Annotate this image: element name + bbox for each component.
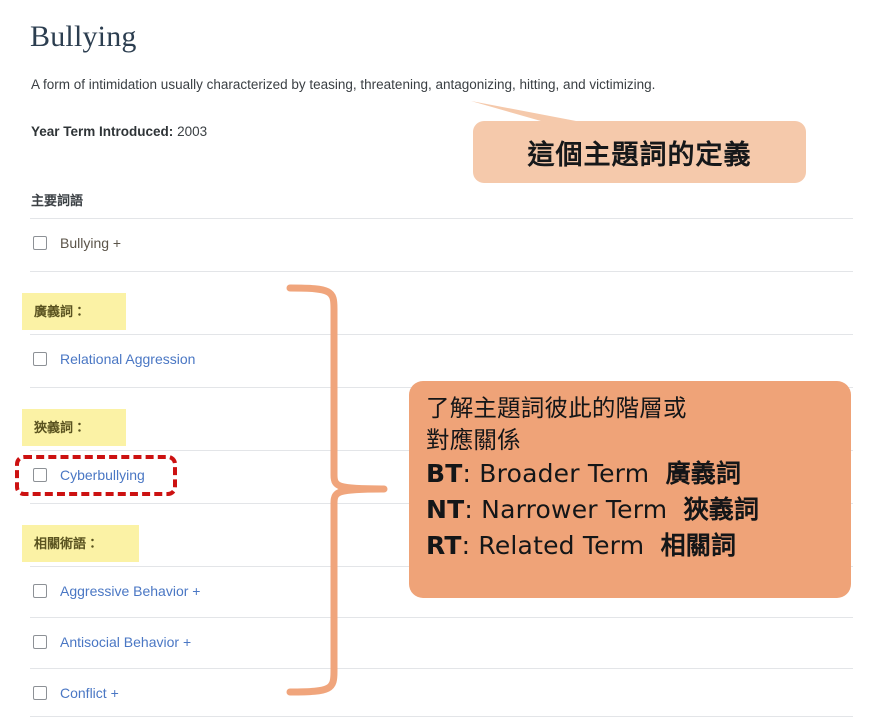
divider [30,716,853,717]
list-item-antisocial-behavior[interactable]: Antisocial Behavior + [33,634,191,650]
callout-relationship-legend: 了解主題詞彼此的階層或 對應關係 BT: Broader Term 廣義詞 NT… [409,381,851,598]
section-heading-related-terms: 相關術語： [22,525,139,562]
divider [30,617,853,618]
year-term-introduced-value: 2003 [177,124,207,139]
checkbox-icon[interactable] [33,635,47,649]
divider [30,271,853,272]
legend-nt-code: NT [426,495,464,524]
list-item-label[interactable]: Antisocial Behavior + [60,634,191,650]
thesaurus-term-page: Bullying A form of intimidation usually … [0,0,887,720]
divider [30,668,853,669]
section-heading-narrower-term: 狹義詞： [22,409,126,446]
checkbox-icon[interactable] [33,352,47,366]
legend-rt-code: RT [426,531,462,560]
divider [30,334,853,335]
callout-definition: 這個主題詞的定義 [473,121,806,183]
legend-rt-sep: : [462,531,479,560]
list-item-relational-aggression[interactable]: Relational Aggression [33,351,195,367]
legend-bt-english: Broader Term [479,459,649,488]
year-term-introduced: Year Term Introduced: 2003 [31,124,207,139]
list-item-main-term[interactable]: Bullying + [33,235,121,251]
section-heading-main-term: 主要詞語 [31,190,83,209]
list-item-label[interactable]: Bullying + [60,235,121,251]
legend-nt-english: Narrower Term [481,495,667,524]
legend-entry-nt: NT: Narrower Term 狹義詞 [426,492,851,528]
legend-bt-sep: : [463,459,480,488]
legend-line-1: 了解主題詞彼此的階層或 [426,392,851,424]
emphasis-box-cyberbullying [15,455,177,496]
list-item-label[interactable]: Aggressive Behavior + [60,583,200,599]
legend-rt-chinese: 相關詞 [661,531,737,560]
callout-definition-text: 這個主題詞的定義 [473,121,806,183]
checkbox-icon[interactable] [33,686,47,700]
legend-entry-bt: BT: Broader Term 廣義詞 [426,456,851,492]
legend-rt-english: Related Term [478,531,644,560]
year-term-introduced-label: Year Term Introduced: [31,124,173,139]
legend-entry-rt: RT: Related Term 相關詞 [426,528,851,564]
legend-nt-chinese: 狹義詞 [684,495,760,524]
section-heading-broader-term: 廣義詞： [22,293,126,330]
divider [30,218,853,219]
list-item-conflict[interactable]: Conflict + [33,685,119,701]
list-item-label[interactable]: Conflict + [60,685,119,701]
legend-bt-code: BT [426,459,463,488]
curly-brace-annotation [272,283,392,703]
list-item-label[interactable]: Relational Aggression [60,351,195,367]
legend-nt-sep: : [464,495,481,524]
checkbox-icon[interactable] [33,236,47,250]
legend-line-2: 對應關係 [426,424,851,456]
scope-note: A form of intimidation usually character… [31,77,655,92]
list-item-aggressive-behavior[interactable]: Aggressive Behavior + [33,583,200,599]
checkbox-icon[interactable] [33,584,47,598]
legend-bt-chinese: 廣義詞 [666,459,742,488]
page-title: Bullying [30,20,137,54]
